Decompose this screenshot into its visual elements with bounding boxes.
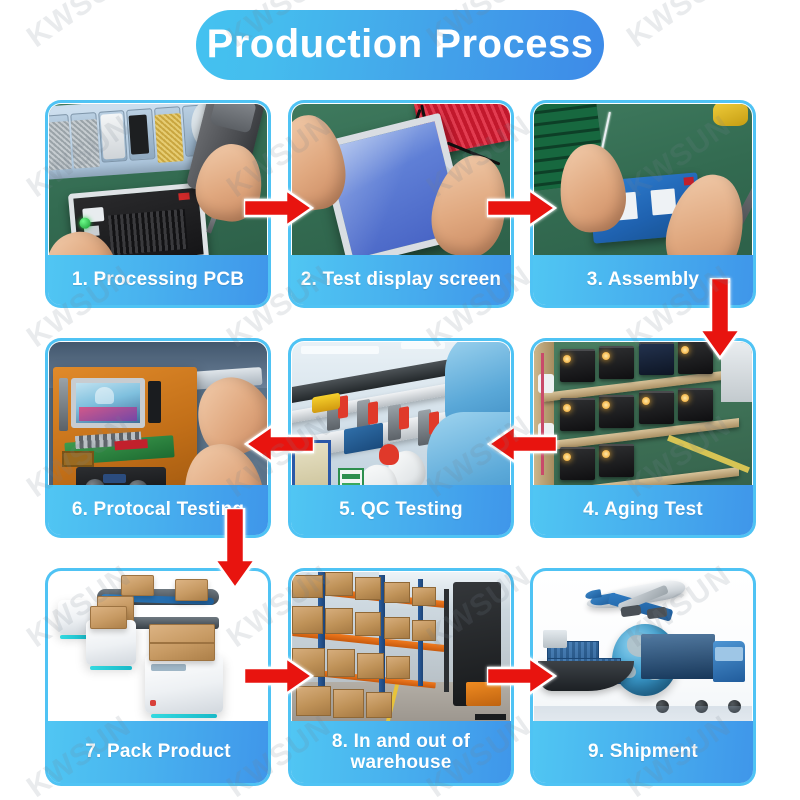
production-process-infographic: Production Process bbox=[0, 0, 800, 800]
step-label-2: 2. Test display screen bbox=[291, 255, 511, 305]
step-photo-8 bbox=[292, 572, 510, 744]
arrow-left-step5-step6 bbox=[244, 424, 314, 464]
arrow-right-step7-step8 bbox=[244, 656, 314, 696]
watermark-text: KWSUN bbox=[621, 0, 737, 55]
step-card-4[interactable]: 4. Aging Test bbox=[530, 338, 756, 538]
step-card-3[interactable]: 3. Assembly bbox=[530, 100, 756, 308]
step-label-7: 7. Pack Product bbox=[48, 721, 268, 783]
step-card-8[interactable]: 8. In and out of warehouse bbox=[288, 568, 514, 786]
arrow-right-step8-step9 bbox=[487, 656, 557, 696]
step-label-9: 9. Shipment bbox=[533, 721, 753, 783]
arrow-down-step3-step4 bbox=[698, 278, 742, 360]
arrow-right-step1-step2 bbox=[244, 188, 314, 228]
step-label-5: 5. QC Testing bbox=[291, 485, 511, 535]
page-title-banner: Production Process bbox=[196, 10, 604, 80]
step-label-1: 1. Processing PCB bbox=[48, 255, 268, 305]
page-title: Production Process bbox=[207, 24, 594, 67]
step-photo-7 bbox=[49, 572, 267, 744]
step-card-9[interactable]: 9. Shipment bbox=[530, 568, 756, 786]
step-label-4: 4. Aging Test bbox=[533, 485, 753, 535]
step-card-5[interactable]: 5. QC Testing bbox=[288, 338, 514, 538]
step-card-2[interactable]: 2. Test display screen bbox=[288, 100, 514, 308]
arrow-left-step4-step5 bbox=[487, 424, 557, 464]
step-photo-9 bbox=[534, 572, 752, 744]
step-card-1[interactable]: 1. Processing PCB bbox=[45, 100, 271, 308]
step-card-7[interactable]: 7. Pack Product bbox=[45, 568, 271, 786]
step-label-8: 8. In and out of warehouse bbox=[291, 721, 511, 783]
arrow-right-step2-step3 bbox=[487, 188, 557, 228]
arrow-down-step6-step7 bbox=[213, 508, 257, 590]
watermark-text: KWSUN bbox=[21, 0, 137, 55]
